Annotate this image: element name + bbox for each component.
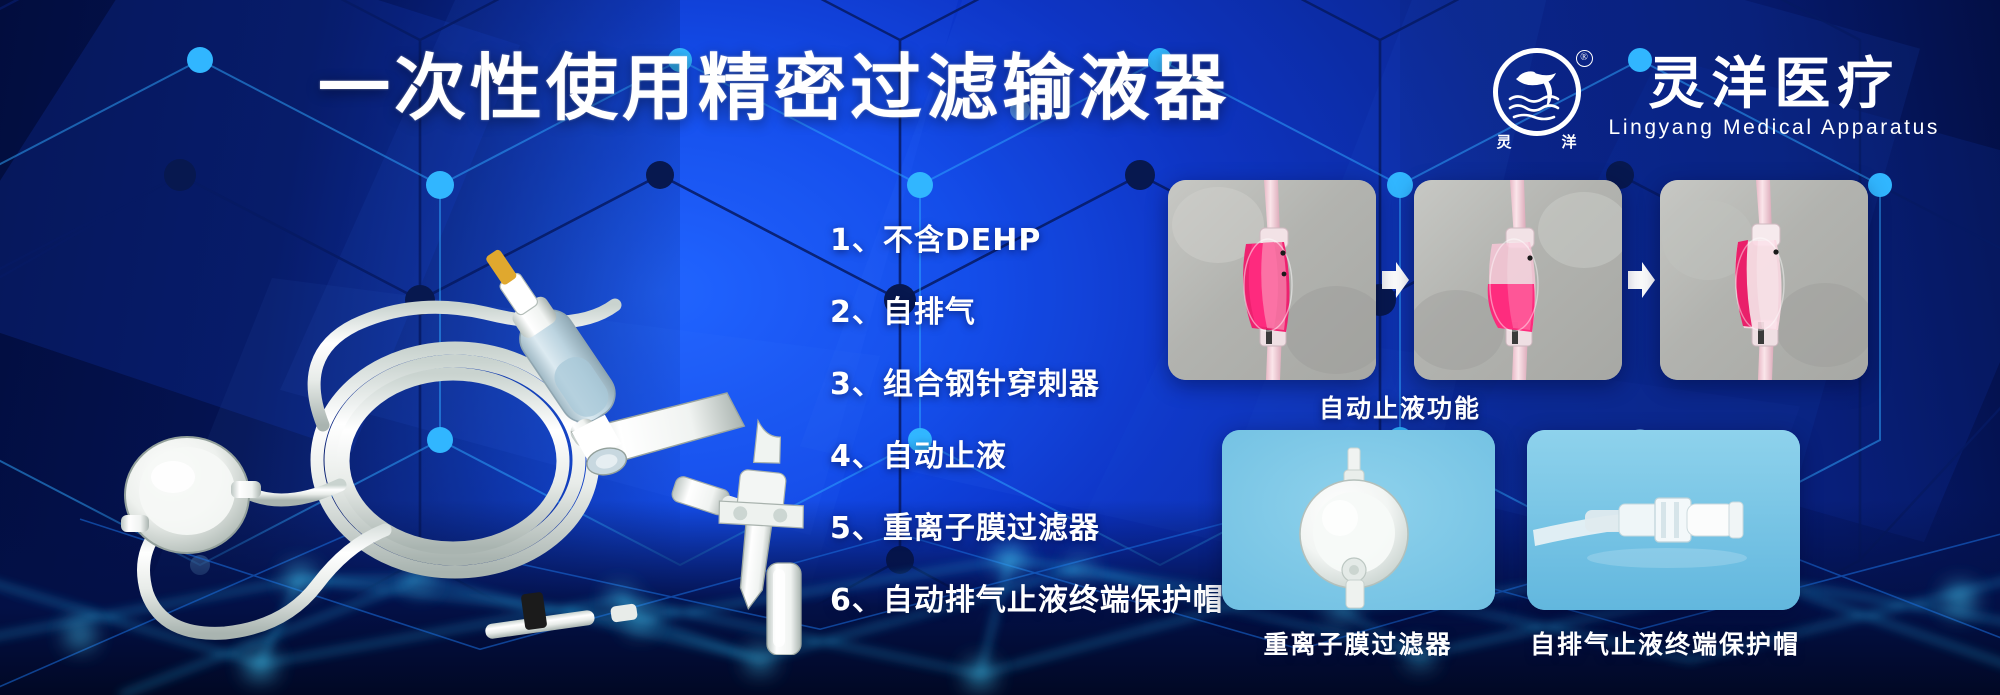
feature-item-6: 6、自动排气止液终端保护帽	[830, 575, 1224, 619]
logo-emblem: ® 灵 洋	[1493, 48, 1589, 148]
feature-item-1: 1、不含DEHP	[830, 215, 1224, 259]
caption-end-cap: 自排气止液终端保护帽	[1530, 625, 1800, 661]
part-membrane-filter	[121, 437, 261, 553]
brand-name-en: Lingyang Medical Apparatus	[1609, 116, 1940, 140]
feature-item-3: 3、组合钢针穿刺器	[830, 359, 1224, 403]
feature-list: 1、不含DEHP 2、自排气 3、组合钢针穿刺器 4、自动止液 5、重离子膜过滤…	[830, 215, 1224, 619]
banner-header: 一次性使用精密过滤输液器	[0, 0, 2000, 150]
logo-emblem-caption: 灵 洋	[1493, 131, 1581, 152]
brand-logo: ® 灵 洋 灵洋医疗 Lingyang Medical Apparatus	[1493, 48, 1940, 148]
part-protector-cap	[767, 563, 801, 655]
logo-char-left: 灵	[1497, 131, 1512, 152]
registered-trademark-icon: ®	[1576, 50, 1593, 67]
product-banner: 一次性使用精密过滤输液器	[0, 0, 2000, 695]
photo-card-filter-half	[1414, 180, 1622, 380]
page-title: 一次性使用精密过滤输液器	[318, 52, 1230, 124]
feature-item-2: 2、自排气	[830, 287, 1224, 331]
arrow-right-icon-1	[1376, 180, 1414, 380]
arrow-right-icon-2	[1622, 180, 1660, 380]
caption-membrane-filter: 重离子膜过滤器	[1263, 625, 1452, 661]
photo-card-membrane-filter	[1222, 430, 1495, 610]
brand-name-block: 灵洋医疗 Lingyang Medical Apparatus	[1609, 56, 1940, 141]
feature-item-5: 5、重离子膜过滤器	[830, 503, 1224, 547]
feature-item-4: 4、自动止液	[830, 431, 1224, 475]
logo-char-right: 洋	[1562, 131, 1577, 152]
feature-photo-panels	[1222, 430, 1800, 610]
auto-stop-sequence-panels	[1168, 180, 1868, 380]
photo-card-filter-full	[1168, 180, 1376, 380]
logo-circle-icon	[1493, 48, 1581, 136]
part-injection-port	[484, 592, 638, 640]
part-connectors	[670, 417, 814, 655]
photo-card-filter-empty	[1660, 180, 1868, 380]
product-photo-infusion-set	[55, 185, 855, 655]
photo-card-end-cap	[1527, 430, 1800, 610]
caption-auto-stop: 自动止液功能	[1319, 389, 1481, 425]
brand-name-cn: 灵洋医疗	[1648, 56, 1900, 115]
